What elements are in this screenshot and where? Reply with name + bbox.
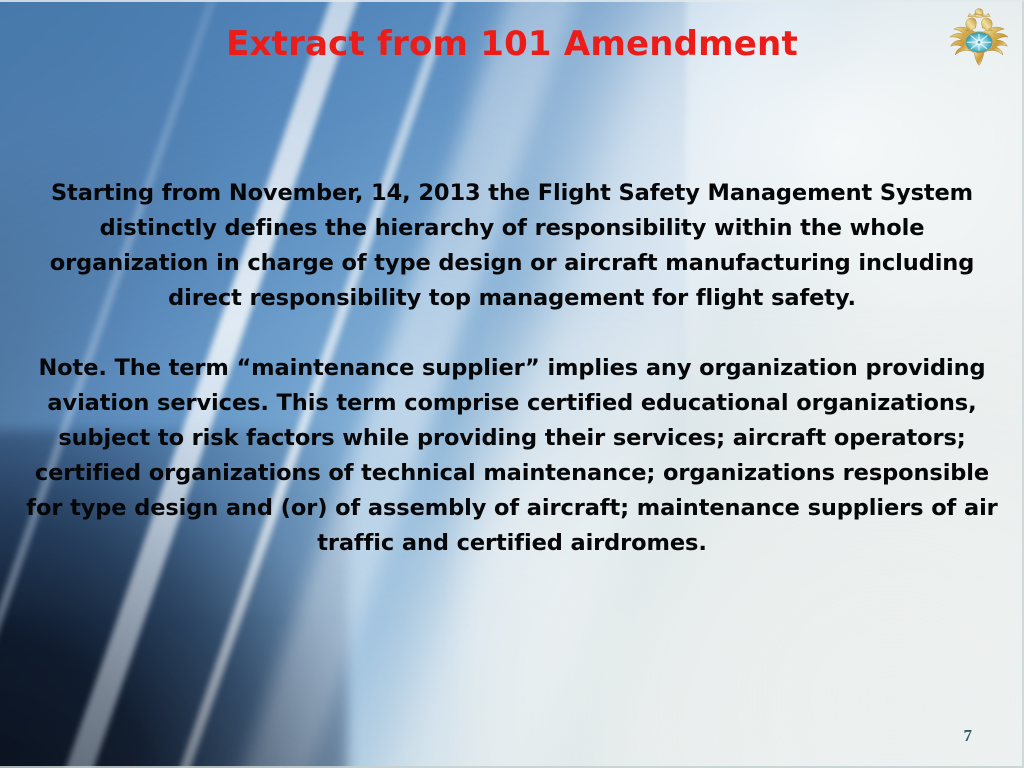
note-text: The term “maintenance supplier” implies … [26, 355, 997, 556]
slide-body: Starting from November, 14, 2013 the Fli… [24, 176, 1000, 561]
presentation-slide: Extract from 101 Amendment [0, 0, 1024, 768]
page-title: Extract from 101 Amendment [0, 26, 1024, 63]
slide-content: Extract from 101 Amendment [0, 0, 1024, 768]
note-label: Note. [38, 355, 106, 381]
paragraph-main: Starting from November, 14, 2013 the Fli… [24, 176, 1000, 316]
paragraph-note: Note. The term “maintenance supplier” im… [24, 351, 1000, 561]
page-number: 7 [964, 726, 973, 746]
agency-emblem-icon [946, 6, 1012, 72]
